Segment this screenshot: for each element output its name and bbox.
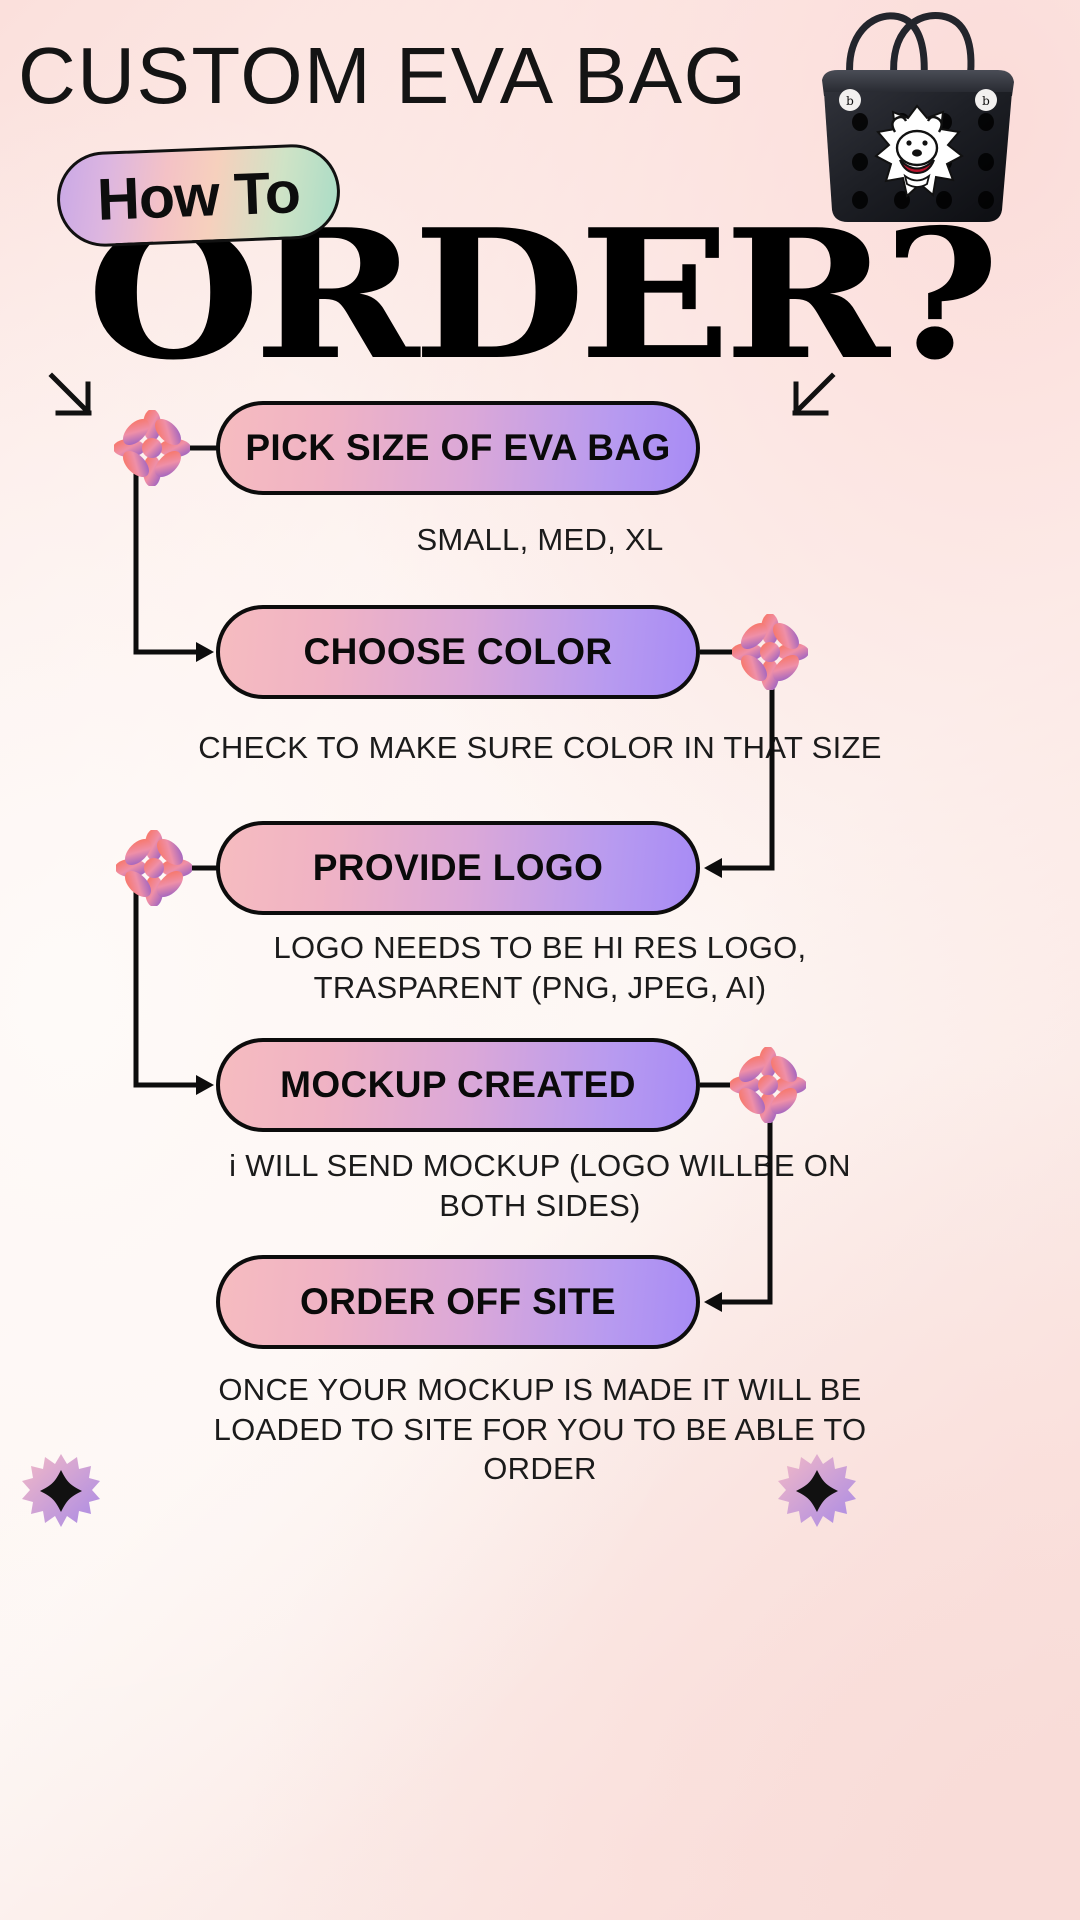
step-pill-1-label: PICK SIZE OF EVA BAG: [245, 427, 670, 469]
flower-icon-step-3: [116, 830, 192, 906]
flower-icon-step-1: [114, 410, 190, 486]
how-to-badge: How To: [55, 143, 341, 249]
flower-icon-step-2: [732, 614, 808, 690]
flower-icon-step-4: [730, 1047, 806, 1123]
bag-charm-right: b: [975, 89, 997, 111]
step-caption-2: CHECK TO MAKE SURE COLOR IN THAT SIZE: [0, 728, 1080, 768]
svg-text:b: b: [982, 94, 990, 108]
how-to-badge-label: How To: [96, 158, 301, 234]
step-caption-3: LOGO NEEDS TO BE HI RES LOGO, TRASPARENT…: [0, 928, 1080, 1007]
step-pill-4-label: MOCKUP CREATED: [280, 1064, 636, 1106]
sparkle-starburst-badge-left: [22, 1452, 100, 1530]
step-pill-2-label: CHOOSE COLOR: [303, 631, 612, 673]
page-title: CUSTOM EVA BAG: [18, 36, 747, 116]
poster-canvas: CUSTOM EVA BAG: [0, 0, 1080, 1920]
step-pill-4[interactable]: MOCKUP CREATED: [216, 1038, 700, 1132]
step-pill-5-label: ORDER OFF SITE: [300, 1281, 616, 1323]
step-pill-2[interactable]: CHOOSE COLOR: [216, 605, 700, 699]
step-caption-5: ONCE YOUR MOCKUP IS MADE IT WILL BE LOAD…: [0, 1370, 1080, 1489]
step-pill-3-label: PROVIDE LOGO: [313, 847, 604, 889]
step-pill-5[interactable]: ORDER OFF SITE: [216, 1255, 700, 1349]
step-pill-3[interactable]: PROVIDE LOGO: [216, 821, 700, 915]
sparkle-starburst-badge-right: [778, 1452, 856, 1530]
bag-charm-left: b: [839, 89, 861, 111]
step-caption-1: SMALL, MED, XL: [0, 520, 1080, 560]
step-pill-1[interactable]: PICK SIZE OF EVA BAG: [216, 401, 700, 495]
step-caption-4: i WILL SEND MOCKUP (LOGO WILLBE ON BOTH …: [0, 1146, 1080, 1225]
svg-text:b: b: [846, 94, 854, 108]
